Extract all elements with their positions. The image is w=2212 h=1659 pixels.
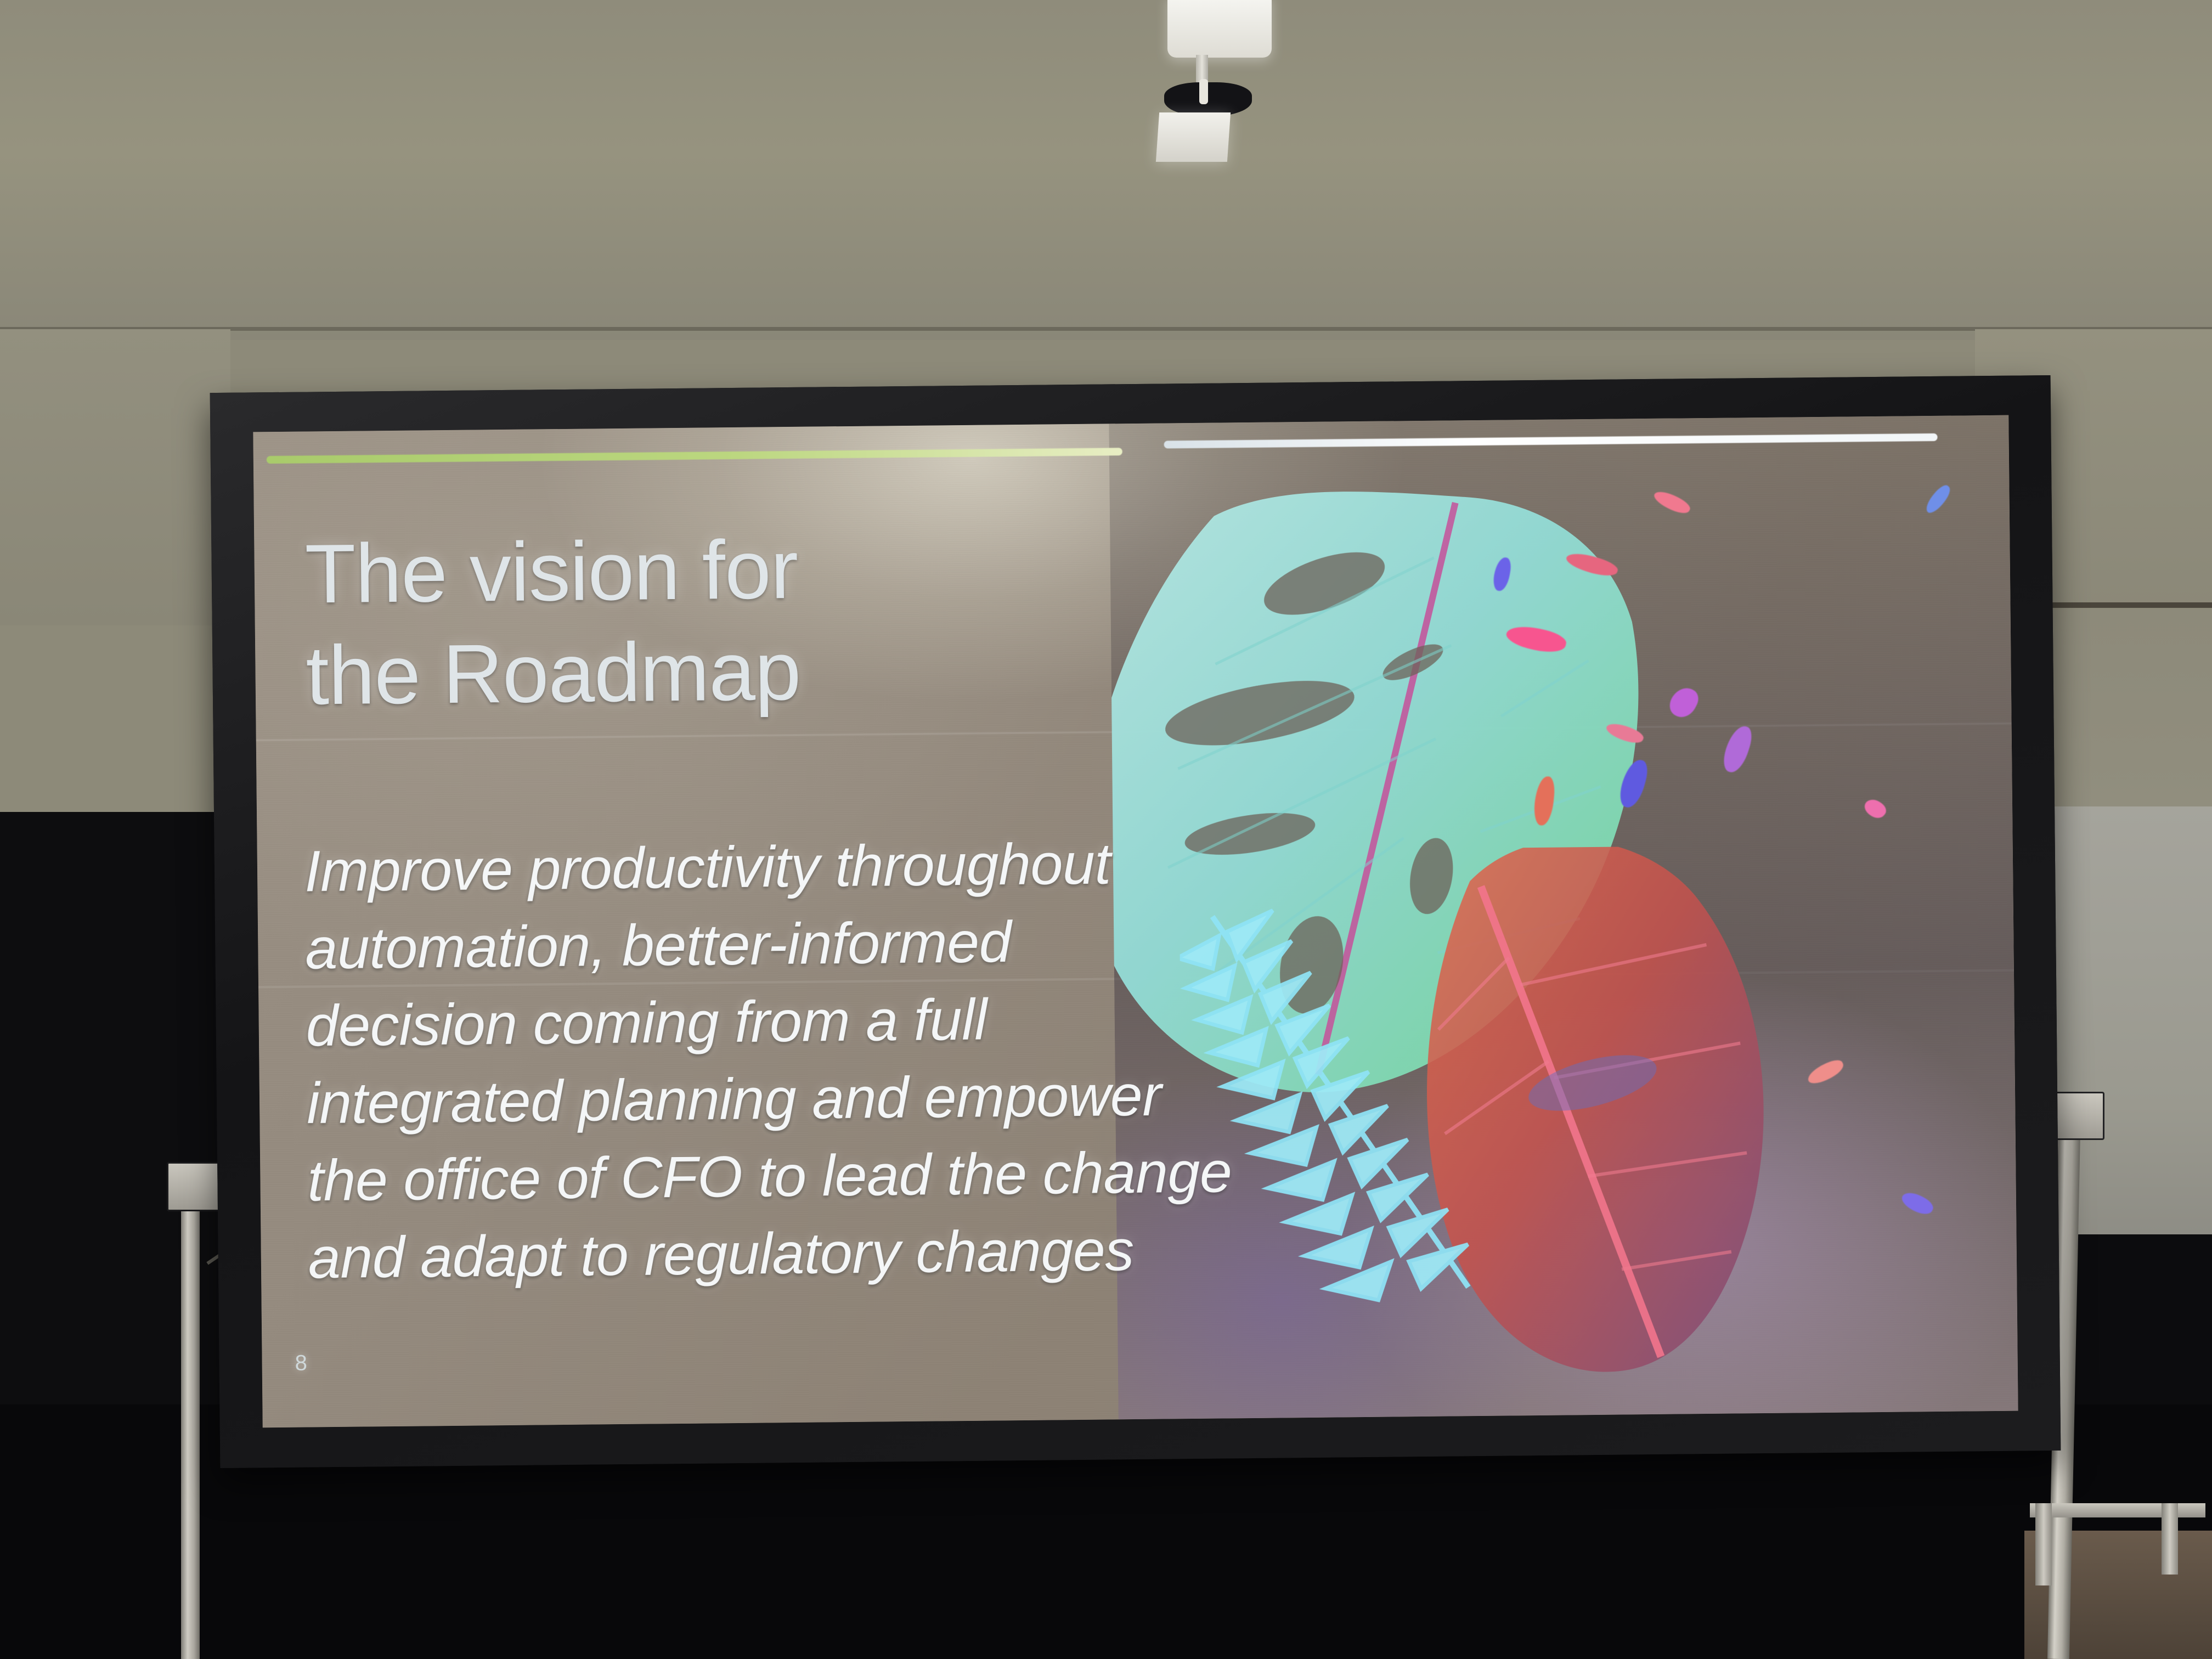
screen-stand-foot bbox=[2030, 1503, 2205, 1517]
presentation-slide: The vision for the Roadmap Improve produ… bbox=[253, 415, 2018, 1428]
fern-frond-icon bbox=[1180, 902, 1523, 1323]
slide-artwork bbox=[1109, 415, 2018, 1420]
slide-title-line: the Roadmap bbox=[306, 618, 1086, 727]
screen-stand-foot-leg-a bbox=[2035, 1503, 2052, 1585]
ceiling bbox=[0, 0, 2212, 340]
slide-body: Improve productivity throughout automati… bbox=[304, 825, 1186, 1297]
slide-body-line: and adapt to regulatory changes bbox=[308, 1211, 1186, 1297]
slide-body-line: the office of CFO to lead the change bbox=[307, 1134, 1186, 1220]
room-background: The vision for the Roadmap Improve produ… bbox=[0, 0, 2212, 1659]
slide-body-line: Improve productivity throughout bbox=[304, 825, 1182, 910]
projection-screen-frame: The vision for the Roadmap Improve produ… bbox=[210, 375, 2061, 1468]
projection-screen-surface[interactable]: The vision for the Roadmap Improve produ… bbox=[253, 415, 2018, 1428]
screen-stand-left-leg bbox=[181, 1174, 200, 1659]
slide-body-line: decision coming from a full bbox=[306, 979, 1184, 1065]
wall-left bbox=[0, 329, 230, 625]
slide-body-line: automation, better-informed bbox=[305, 902, 1183, 988]
ceiling-hook-icon bbox=[1164, 82, 1252, 116]
slide-title: The vision for the Roadmap bbox=[304, 516, 1085, 727]
slide-title-line: The vision for bbox=[304, 516, 1085, 625]
ceiling-seam bbox=[0, 327, 2212, 331]
ceiling-light-icon bbox=[1167, 0, 1272, 58]
slide-body-line: integrated planning and empower bbox=[306, 1057, 1184, 1142]
slide-number: 8 bbox=[295, 1351, 307, 1376]
screen-stand-foot-leg-b bbox=[2162, 1503, 2178, 1575]
projector-light-icon bbox=[1156, 112, 1231, 162]
